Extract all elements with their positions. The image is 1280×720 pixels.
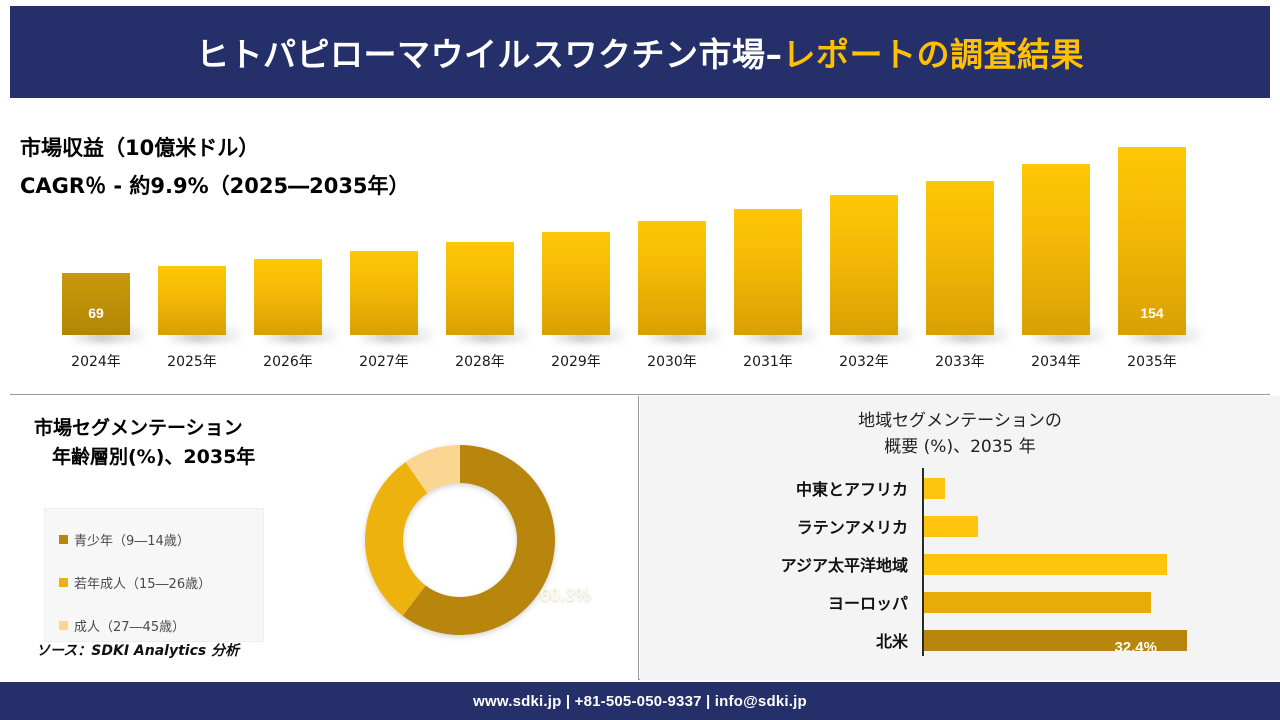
revenue-bar xyxy=(158,266,226,335)
regional-title-line1: 地域セグメンテーションの xyxy=(858,411,1062,431)
segmentation-title-line2: 年齢層別(%)、2035年 xyxy=(34,443,334,472)
regional-bar xyxy=(924,592,1151,613)
regional-bar-label: ヨーロッパ xyxy=(828,590,908,614)
footer-contact: www.sdki.jp | +81-505-050-9337 | info@sd… xyxy=(473,693,807,710)
regional-bar-row: 中東とアフリカ xyxy=(640,472,1280,506)
regional-bar-value-label: 32.4% xyxy=(1114,639,1157,656)
bar-category-label: 2027年 xyxy=(350,351,418,371)
legend-item-teens: 青少年（9―14歳） xyxy=(59,530,190,549)
revenue-bar: 69 xyxy=(62,273,130,335)
regional-bar-row: 北米32.4% xyxy=(640,624,1280,658)
segmentation-panel: 市場セグメンテーション 年齢層別(%)、2035年 青少年（9―14歳） 若年成… xyxy=(0,396,638,680)
segmentation-title-line1: 市場セグメンテーション xyxy=(34,417,243,439)
regional-bar-row: アジア太平洋地域 xyxy=(640,548,1280,582)
legend-label: 青少年（9―14歳） xyxy=(74,530,190,549)
legend-item-young-adults: 若年成人（15―26歳） xyxy=(59,573,211,592)
regional-bar-label: アジア太平洋地域 xyxy=(781,552,908,576)
bar-category-label: 2024年 xyxy=(62,351,130,371)
legend-label: 若年成人（15―26歳） xyxy=(74,573,211,592)
bar-category-label: 2032年 xyxy=(830,351,898,371)
bar-category-label: 2025年 xyxy=(158,351,226,371)
regional-panel: 地域セグメンテーションの 概要 (%)、2035 年 中東とアフリカラテンアメリ… xyxy=(640,396,1280,680)
legend-swatch-icon xyxy=(59,621,68,630)
bar-category-label: 2035年 xyxy=(1118,351,1186,371)
revenue-bar xyxy=(638,221,706,335)
revenue-bar: 154 xyxy=(1118,147,1186,335)
regional-bar xyxy=(924,516,978,537)
legend-label: 成人（27―45歳） xyxy=(74,616,185,635)
bar-category-label: 2026年 xyxy=(254,351,322,371)
regional-bar: 32.4% xyxy=(924,630,1187,651)
bar-category-label: 2030年 xyxy=(638,351,706,371)
revenue-chart-section: 市場収益（10億米ドル） CAGR％ - 約9.9%（2025―2035年） 6… xyxy=(0,104,1280,394)
donut-svg xyxy=(352,432,568,648)
bar-category-label: 2034年 xyxy=(1022,351,1090,371)
revenue-bar xyxy=(734,209,802,335)
revenue-bar xyxy=(1022,164,1090,335)
infographic-page: ヒトパピローマウイルスワクチン市場–レポートの調査結果 市場収益（10億米ドル）… xyxy=(0,0,1280,720)
revenue-bar xyxy=(542,232,610,335)
revenue-bars-plot: 692024年2025年2026年2027年2028年2029年2030年203… xyxy=(0,104,1280,394)
regional-title: 地域セグメンテーションの 概要 (%)、2035 年 xyxy=(640,408,1280,461)
revenue-bar xyxy=(446,242,514,335)
regional-bar-label: ラテンアメリカ xyxy=(797,514,908,538)
revenue-bar xyxy=(254,259,322,335)
regional-bar-row: ヨーロッパ xyxy=(640,586,1280,620)
bar-category-label: 2029年 xyxy=(542,351,610,371)
bar-category-label: 2028年 xyxy=(446,351,514,371)
bar-category-label: 2031年 xyxy=(734,351,802,371)
segmentation-title: 市場セグメンテーション 年齢層別(%)、2035年 xyxy=(34,414,334,473)
revenue-bar xyxy=(350,251,418,335)
regional-bar xyxy=(924,554,1167,575)
revenue-bar xyxy=(926,181,994,335)
segmentation-donut-chart: 60.3% xyxy=(352,432,568,648)
page-title: ヒトパピローマウイルスワクチン市場–レポートの調査結果 xyxy=(196,28,1084,76)
regional-bar xyxy=(924,478,945,499)
bar-value-label: 69 xyxy=(62,305,130,321)
donut-slice xyxy=(365,462,427,616)
bar-category-label: 2033年 xyxy=(926,351,994,371)
divider-vertical xyxy=(638,396,639,680)
legend-swatch-icon xyxy=(59,535,68,544)
page-title-accent: レポートの調査結果 xyxy=(783,35,1085,74)
page-title-main: ヒトパピローマウイルスワクチン市場– xyxy=(196,35,783,74)
bar-value-label: 154 xyxy=(1118,305,1186,321)
legend-swatch-icon xyxy=(59,578,68,587)
donut-center-value: 60.3% xyxy=(540,585,591,606)
regional-bar-row: ラテンアメリカ xyxy=(640,510,1280,544)
revenue-bar xyxy=(830,195,898,335)
page-header: ヒトパピローマウイルスワクチン市場–レポートの調査結果 xyxy=(10,6,1270,98)
regional-bar-label: 北米 xyxy=(876,628,908,652)
segmentation-legend: 青少年（9―14歳） 若年成人（15―26歳） 成人（27―45歳） xyxy=(44,508,264,642)
regional-title-line2: 概要 (%)、2035 年 xyxy=(884,437,1036,457)
divider-horizontal-top xyxy=(10,394,1270,395)
legend-item-adults: 成人（27―45歳） xyxy=(59,616,185,635)
regional-bar-label: 中東とアフリカ xyxy=(796,476,908,500)
source-note: ソース：SDKI Analytics 分析 xyxy=(36,640,239,660)
page-footer: www.sdki.jp | +81-505-050-9337 | info@sd… xyxy=(0,682,1280,720)
